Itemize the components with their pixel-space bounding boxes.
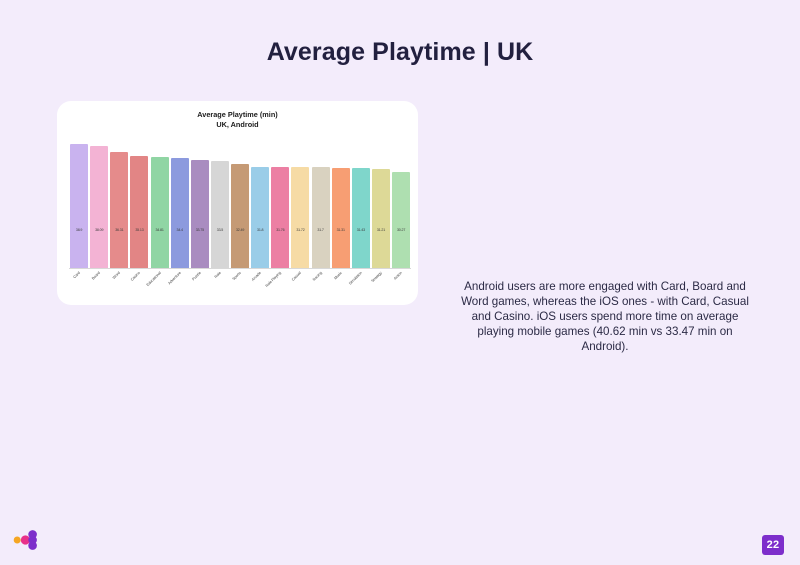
bar-value-label: 31.21 xyxy=(372,228,390,232)
x-tick-cell: Simulation xyxy=(352,269,370,305)
page-title: Average Playtime | UK xyxy=(0,38,800,67)
chart-plot-area: 38.938.0936.3135.1334.8134.433.7533.532.… xyxy=(69,137,411,269)
bar-item: 36.31 xyxy=(110,137,128,269)
bar-item: 31.7 xyxy=(312,137,330,269)
bar-item: 31.43 xyxy=(352,137,370,269)
bar xyxy=(372,169,390,269)
bar-value-label: 31.72 xyxy=(291,228,309,232)
x-tick-cell: Action xyxy=(392,269,410,305)
x-tick-cell: Sports xyxy=(231,269,249,305)
x-tick-label: Board xyxy=(91,271,101,281)
logo-dot-purple-bottom xyxy=(28,541,37,550)
chart-card: Average Playtime (min) UK, Android 38.93… xyxy=(57,101,418,305)
x-tick-cell: Role Playing xyxy=(271,269,289,305)
bar-value-label: 31.7 xyxy=(312,228,330,232)
bar xyxy=(171,158,189,269)
x-tick-cell: Adventure xyxy=(171,269,189,305)
x-tick-label: Racing xyxy=(312,271,323,282)
bar-item: 31.8 xyxy=(251,137,269,269)
bar xyxy=(151,157,169,269)
bar-value-label: 33.5 xyxy=(211,228,229,232)
chart-title-line-1: Average Playtime (min) xyxy=(197,110,277,119)
bar-item: 31.31 xyxy=(332,137,350,269)
bar xyxy=(130,156,148,269)
x-tick-cell: Racing xyxy=(312,269,330,305)
x-tick-label: Casino xyxy=(130,271,141,282)
insight-paragraph: Android users are more engaged with Card… xyxy=(455,280,755,355)
x-tick-cell: Educational xyxy=(151,269,169,305)
x-tick-label: Music xyxy=(333,271,342,280)
bar xyxy=(110,152,128,269)
bar-item: 31.72 xyxy=(291,137,309,269)
bar xyxy=(352,168,370,269)
x-tick-label: Card xyxy=(73,271,81,279)
x-tick-label: Casual xyxy=(291,271,302,282)
bar-item: 30.27 xyxy=(392,137,410,269)
bar-item: 33.75 xyxy=(191,137,209,269)
x-tick-cell: Puzzle xyxy=(191,269,209,305)
bar-value-label: 31.76 xyxy=(271,228,289,232)
bar-item: 38.09 xyxy=(90,137,108,269)
bar-value-label: 31.8 xyxy=(251,228,269,232)
bar xyxy=(332,168,350,269)
bar-item: 33.5 xyxy=(211,137,229,269)
insight-text: Android users are more engaged with Card… xyxy=(455,280,755,355)
bar-item: 35.13 xyxy=(130,137,148,269)
x-tick-cell: Word xyxy=(110,269,128,305)
bar-value-label: 30.27 xyxy=(392,228,410,232)
bar-value-label: 31.43 xyxy=(352,228,370,232)
x-tick-cell: Card xyxy=(70,269,88,305)
x-tick-cell: Role xyxy=(211,269,229,305)
x-tick-cell: Casino xyxy=(130,269,148,305)
bar-value-label: 34.4 xyxy=(171,228,189,232)
bar-value-label: 33.75 xyxy=(191,228,209,232)
bar-item: 34.4 xyxy=(171,137,189,269)
bar xyxy=(392,172,410,269)
bar xyxy=(291,167,309,269)
bar-item: 38.9 xyxy=(70,137,88,269)
bar-item: 34.81 xyxy=(151,137,169,269)
bar xyxy=(191,160,209,269)
x-tick-label: Adventure xyxy=(167,271,181,285)
x-tick-label: Role xyxy=(214,271,222,279)
bar xyxy=(312,167,330,269)
x-tick-cell: Strategy xyxy=(372,269,390,305)
x-tick-label: Word xyxy=(112,271,121,280)
brand-dots-logo xyxy=(13,529,41,551)
chart-title: Average Playtime (min) UK, Android xyxy=(57,110,418,130)
x-tick-label: Arcade xyxy=(251,271,262,282)
bar-series: 38.938.0936.3135.1334.8134.433.7533.532.… xyxy=(69,137,411,269)
x-tick-label: Action xyxy=(393,271,403,281)
x-tick-label: Puzzle xyxy=(191,271,201,281)
bar xyxy=(271,167,289,269)
bar xyxy=(251,167,269,269)
bar xyxy=(211,161,229,269)
bar-item: 31.21 xyxy=(372,137,390,269)
chart-title-line-2: UK, Android xyxy=(57,120,418,130)
bar-value-label: 36.31 xyxy=(110,228,128,232)
x-tick-label: Strategy xyxy=(371,271,383,283)
page-number-badge: 22 xyxy=(762,535,784,555)
x-tick-cell: Casual xyxy=(291,269,309,305)
bar-value-label: 38.9 xyxy=(70,228,88,232)
x-tick-label: Sports xyxy=(232,271,242,281)
bar-value-label: 31.31 xyxy=(332,228,350,232)
bar xyxy=(231,164,249,269)
bar-item: 31.76 xyxy=(271,137,289,269)
bar-value-label: 35.13 xyxy=(130,228,148,232)
x-tick-cell: Music xyxy=(332,269,350,305)
x-tick-label: Simulation xyxy=(348,271,363,286)
bar-value-label: 34.81 xyxy=(151,228,169,232)
bar-value-label: 38.09 xyxy=(90,228,108,232)
bar xyxy=(90,146,108,269)
logo-dot-orange xyxy=(14,537,21,544)
x-tick-cell: Board xyxy=(90,269,108,305)
bar-value-label: 32.49 xyxy=(231,228,249,232)
bar-item: 32.49 xyxy=(231,137,249,269)
bar xyxy=(70,144,88,269)
x-axis-tick-labels: CardBoardWordCasinoEducationalAdventureP… xyxy=(69,269,411,305)
